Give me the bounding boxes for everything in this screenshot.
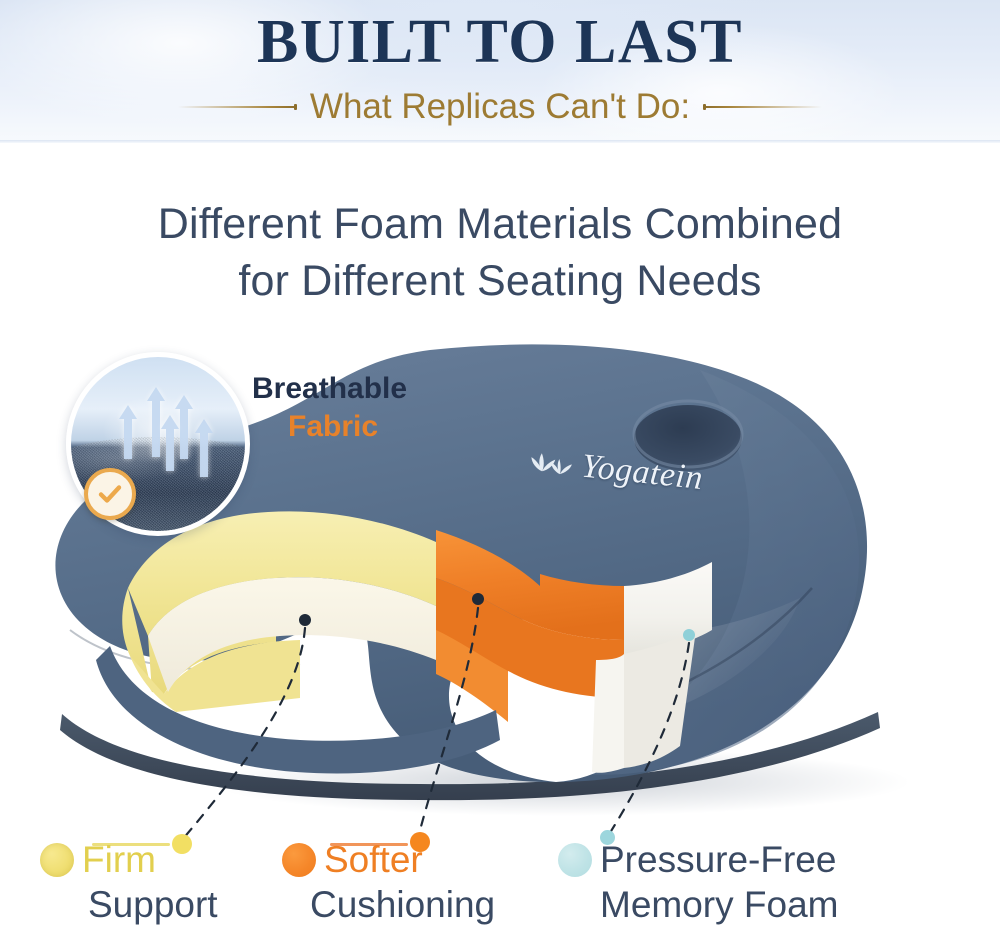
legend-item-memory: Pressure-Free Memory Foam: [558, 838, 978, 928]
subtitle-rule-left: [178, 106, 296, 108]
pointer-dot-firm: [299, 614, 311, 626]
airflow-arrow-2: [147, 387, 165, 401]
pointer-dot-softer: [472, 593, 484, 605]
legend-firm-row1: Firm: [40, 838, 300, 882]
section-heading-line1: Different Foam Materials Combined: [0, 196, 1000, 253]
section-heading: Different Foam Materials Combined for Di…: [0, 196, 1000, 310]
legend-swatch-firm: [40, 843, 74, 877]
callout-label-line2: Fabric: [288, 408, 482, 446]
airflow-arrow-3: [175, 395, 193, 409]
foam-layer-memory-side: [592, 654, 624, 773]
subtitle-row: What Replicas Can't Do:: [0, 86, 1000, 128]
legend-softer-row1: Softer: [282, 838, 572, 882]
legend-keyword-softer: Softer: [324, 839, 423, 881]
airflow-arrow-5: [195, 419, 213, 433]
infographic-root: BUILT TO LAST What Replicas Can't Do: Di…: [0, 0, 1000, 937]
subtitle-rule-right: [704, 106, 822, 108]
legend-description-memory: Memory Foam: [600, 882, 978, 928]
pointer-dot-memory: [683, 629, 695, 641]
page-title: BUILT TO LAST: [0, 6, 1000, 78]
section-heading-line2: for Different Seating Needs: [0, 253, 1000, 310]
legend-item-firm: Firm Support: [40, 838, 300, 928]
breathable-fabric-label: Breathable Fabric: [252, 370, 482, 446]
airflow-arrow-1: [119, 405, 137, 419]
page-subtitle: What Replicas Can't Do:: [310, 86, 690, 128]
legend-memory-row1: Pressure-Free: [558, 838, 978, 882]
legend-description-softer: Cushioning: [310, 882, 572, 928]
legend-description-firm: Support: [88, 882, 300, 928]
airflow-arrow-4: [161, 415, 179, 429]
legend-swatch-softer: [282, 843, 316, 877]
legend-item-softer: Softer Cushioning: [282, 838, 572, 928]
legend-keyword-firm: Firm: [82, 839, 156, 881]
legend-swatch-memory: [558, 843, 592, 877]
cushion-hole: [634, 405, 742, 471]
breathable-fabric-callout: Breathable Fabric: [66, 352, 256, 544]
legend: Firm Support Softer Cushioning Pressure-…: [0, 838, 1000, 937]
legend-keyword-memory: Pressure-Free: [600, 837, 836, 883]
callout-label-line1: Breathable: [252, 370, 482, 408]
check-badge-icon: [84, 468, 136, 520]
header-banner: BUILT TO LAST What Replicas Can't Do:: [0, 0, 1000, 143]
